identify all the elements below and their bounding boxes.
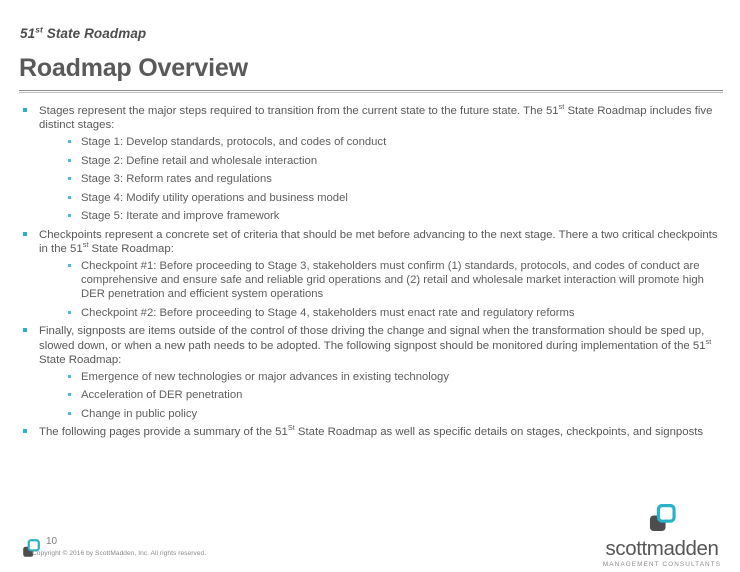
slide-canvas: 51st State Roadmap Roadmap Overview Stag… (0, 0, 740, 572)
page-title: Roadmap Overview (19, 54, 248, 83)
paragraph-text-post: State Roadmap: (39, 354, 121, 366)
slide-eyebrow: 51st State Roadmap (20, 26, 146, 41)
sub-item-label: Change in public policy (81, 408, 197, 420)
dot-bullet-icon (68, 196, 71, 199)
list-item: Finally, signposts are items outside of … (20, 324, 720, 421)
bullet-paragraph: Checkpoints represent a concrete set of … (39, 228, 720, 256)
list-item: Checkpoint #1: Before proceeding to Stag… (63, 259, 720, 301)
eyebrow-text-post: State Roadmap (43, 26, 146, 41)
sub-bullet-group: Checkpoint #1: Before proceeding to Stag… (63, 259, 720, 320)
dot-bullet-icon (68, 177, 71, 180)
sub-item-label: Stage 3: Reform rates and regulations (81, 173, 272, 185)
paragraph-text-post: State Roadmap as well as specific detail… (295, 426, 703, 438)
bullet-paragraph: Stages represent the major steps require… (39, 104, 720, 132)
sub-bullet-group: Stage 1: Develop standards, protocols, a… (63, 135, 720, 223)
dot-bullet-icon (68, 214, 71, 217)
sub-item-label: Checkpoint #2: Before proceeding to Stag… (81, 307, 575, 319)
list-item: The following pages provide a summary of… (20, 425, 720, 439)
square-bullet-icon (23, 232, 27, 236)
sub-bullet-group: Emergence of new technologies or major a… (63, 370, 720, 421)
page-number: 10 (46, 536, 57, 547)
dot-bullet-icon (68, 393, 71, 396)
title-divider (19, 90, 723, 91)
list-item: Stage 5: Iterate and improve framework (63, 209, 720, 223)
copyright-notice: Copyright © 2016 by ScottMadden, Inc. Al… (32, 550, 206, 557)
dot-bullet-icon (68, 375, 71, 378)
sub-item-label: Checkpoint #1: Before proceeding to Stag… (81, 260, 704, 300)
list-item: Checkpoint #2: Before proceeding to Stag… (63, 306, 720, 320)
list-item: Acceleration of DER penetration (63, 388, 720, 402)
brand-wordmark: scottmadden (602, 538, 722, 560)
scottmadden-logo-mark-icon (645, 502, 679, 536)
list-item: Stages represent the major steps require… (20, 104, 720, 223)
square-bullet-icon (23, 429, 27, 433)
list-item: Stage 1: Develop standards, protocols, a… (63, 135, 720, 149)
title-divider-secondary (19, 92, 723, 93)
list-item: Emergence of new technologies or major a… (63, 370, 720, 384)
brand-logo: scottmadden MANAGEMENT CONSULTANTS (602, 502, 722, 568)
dot-bullet-icon (68, 264, 71, 267)
eyebrow-text-pre: 51 (20, 26, 35, 41)
bullet-list-level1: Stages represent the major steps require… (20, 104, 720, 440)
dot-bullet-icon (68, 311, 71, 314)
dot-bullet-icon (68, 159, 71, 162)
square-bullet-icon (23, 108, 27, 112)
slide-body: Stages represent the major steps require… (20, 104, 720, 443)
list-item: Stage 3: Reform rates and regulations (63, 172, 720, 186)
square-bullet-icon (23, 328, 27, 332)
paragraph-superscript: st (706, 337, 712, 346)
bullet-list-level2: Emergence of new technologies or major a… (63, 370, 720, 421)
paragraph-superscript: St (288, 424, 295, 433)
list-item: Stage 2: Define retail and wholesale int… (63, 154, 720, 168)
list-item: Checkpoints represent a concrete set of … (20, 228, 720, 320)
paragraph-text-post: State Roadmap: (88, 243, 173, 255)
bullet-list-level2: Checkpoint #1: Before proceeding to Stag… (63, 259, 720, 320)
sub-item-label: Stage 5: Iterate and improve framework (81, 210, 279, 222)
bullet-paragraph: Finally, signposts are items outside of … (39, 324, 720, 367)
sub-item-label: Stage 1: Develop standards, protocols, a… (81, 136, 386, 148)
brand-tagline: MANAGEMENT CONSULTANTS (602, 561, 722, 568)
dot-bullet-icon (68, 140, 71, 143)
dot-bullet-icon (68, 412, 71, 415)
list-item: Stage 4: Modify utility operations and b… (63, 191, 720, 205)
paragraph-text-pre: The following pages provide a summary of… (39, 426, 288, 438)
sub-item-label: Emergence of new technologies or major a… (81, 371, 449, 383)
sub-item-label: Stage 4: Modify utility operations and b… (81, 192, 348, 204)
sub-item-label: Acceleration of DER penetration (81, 389, 242, 401)
eyebrow-superscript: st (35, 25, 43, 35)
paragraph-text-pre: Stages represent the major steps require… (39, 105, 559, 117)
list-item: Change in public policy (63, 407, 720, 421)
bullet-list-level2: Stage 1: Develop standards, protocols, a… (63, 135, 720, 223)
paragraph-text-pre: Finally, signposts are items outside of … (39, 325, 706, 351)
sub-item-label: Stage 2: Define retail and wholesale int… (81, 155, 317, 167)
bullet-paragraph: The following pages provide a summary of… (39, 425, 720, 439)
